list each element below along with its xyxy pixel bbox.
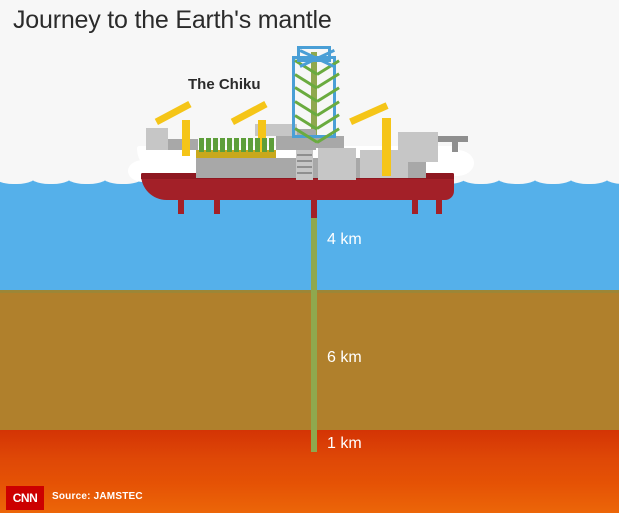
pipe-tube xyxy=(213,138,218,152)
ship-chikyu: The Chiku xyxy=(0,0,619,230)
pipe-tube xyxy=(248,138,253,152)
deck-bridge xyxy=(398,132,438,162)
ladder-rung xyxy=(297,154,312,156)
crane-icon xyxy=(382,118,391,176)
layer-mantle xyxy=(0,430,619,483)
cnn-logo-text: CNN xyxy=(13,491,38,505)
derrick-brace xyxy=(294,87,318,103)
ship-keel-fin xyxy=(412,198,418,214)
ladder-rung xyxy=(297,172,312,174)
pipe-tube xyxy=(206,138,211,152)
deck-antenna-mast xyxy=(452,136,458,152)
layer-value-crust: 6 km xyxy=(327,349,362,367)
derrick-brace xyxy=(294,100,318,116)
deck-structure xyxy=(146,128,168,150)
ship-keel-fin xyxy=(178,198,184,214)
source-attribution: Source: JAMSTEC xyxy=(52,491,143,502)
ship-label: The Chiku xyxy=(188,76,261,93)
infographic-container: Journey to the Earth's mantle The Chiku xyxy=(0,0,619,513)
pipe-tube xyxy=(227,138,232,152)
layer-value-mantle: 1 km xyxy=(327,435,362,453)
pipe-tube xyxy=(241,138,246,152)
pipe-tube xyxy=(220,138,225,152)
ladder-rung xyxy=(297,166,312,168)
layer-crust xyxy=(0,290,619,430)
drilling-derrick-icon xyxy=(292,56,336,138)
pipe-tube xyxy=(255,138,260,152)
ladder-rung xyxy=(297,160,312,162)
layer-crust-top-edge xyxy=(0,290,619,293)
deck-structure xyxy=(318,148,356,180)
ship-keel-fin xyxy=(311,198,317,218)
cnn-logo-icon: CNN xyxy=(6,486,44,510)
ship-keel-fin xyxy=(214,198,220,214)
pipe-tube xyxy=(269,138,274,152)
crane-icon xyxy=(182,120,190,156)
derrick-crown xyxy=(297,46,331,62)
pipe-tube xyxy=(234,138,239,152)
pipe-tube xyxy=(199,138,204,152)
ship-keel-fin xyxy=(436,198,442,214)
layer-value-ocean: 4 km xyxy=(327,231,362,249)
pipe-tube xyxy=(262,138,267,152)
